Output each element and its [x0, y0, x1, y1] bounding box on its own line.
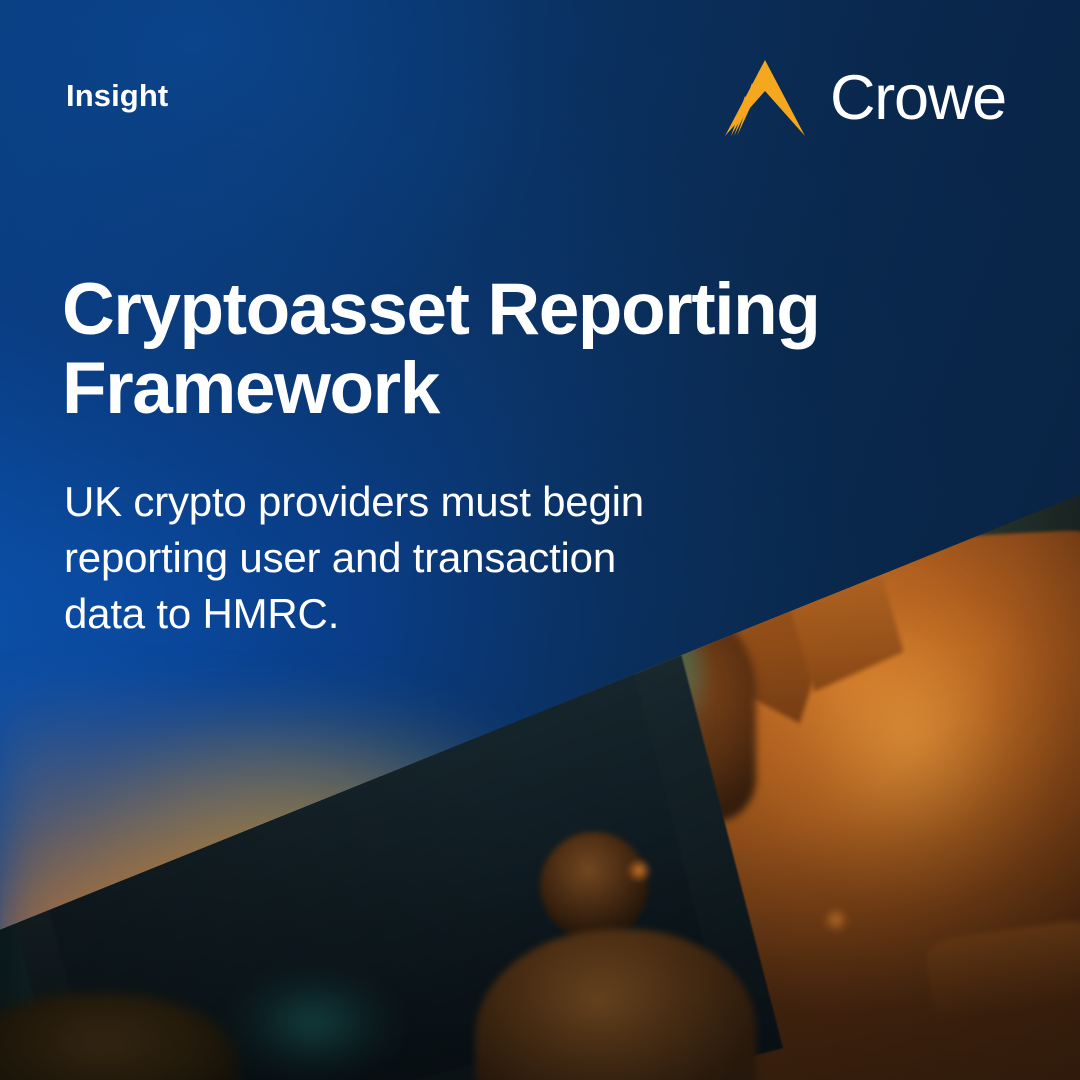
crowe-wordmark: Crowe	[830, 67, 1006, 130]
subheading: UK crypto providers must begin reporting…	[64, 474, 704, 642]
eyebrow-label: Insight	[66, 80, 168, 111]
crowe-chevron-mark	[722, 58, 808, 138]
page-title: Cryptoasset Reporting Framework	[62, 271, 942, 429]
insight-card: Insight Cryptoasset Reporting Framework …	[0, 0, 1080, 1080]
crowe-logo[interactable]: Crowe	[722, 58, 1006, 138]
